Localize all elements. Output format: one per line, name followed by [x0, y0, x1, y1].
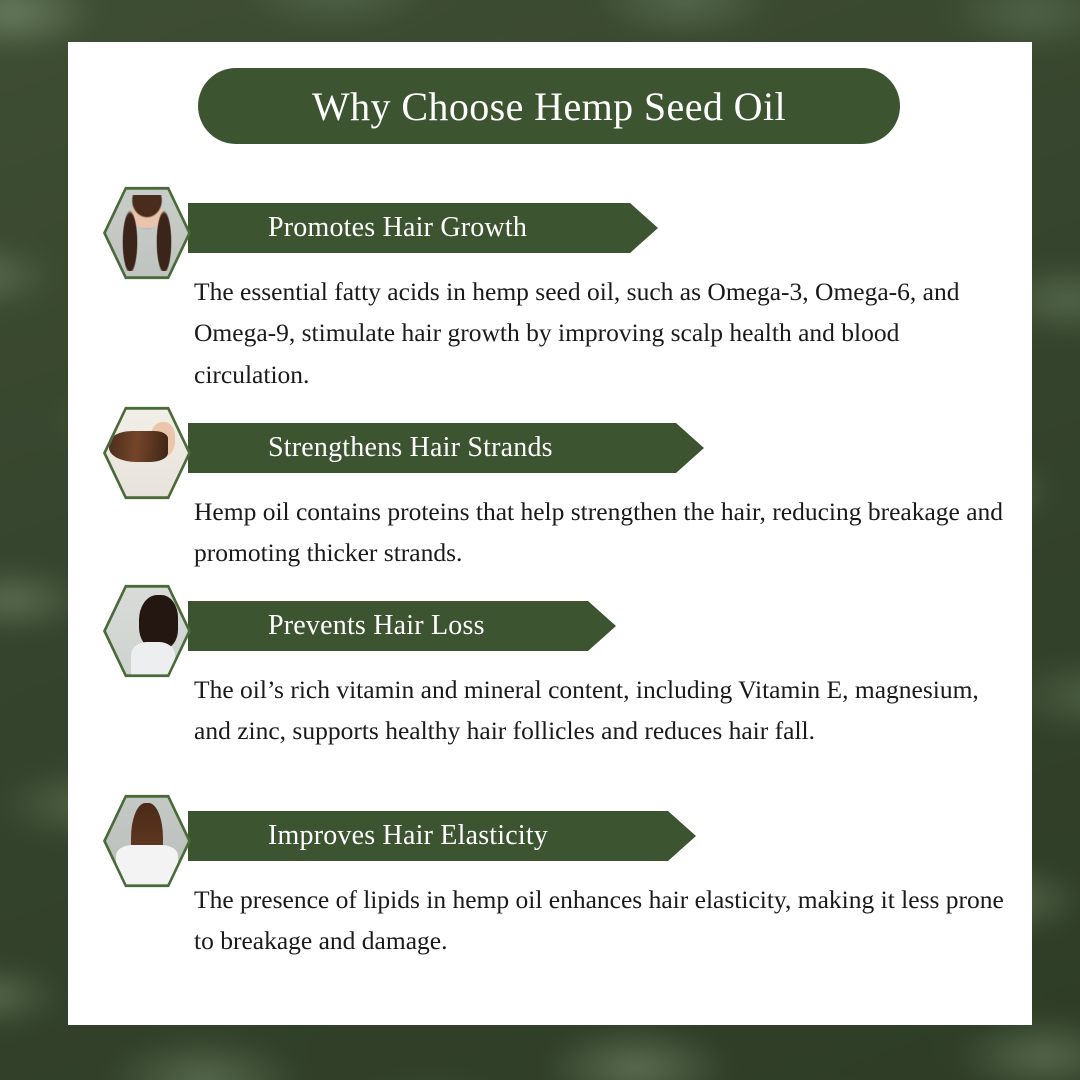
title-pill: Why Choose Hemp Seed Oil [198, 68, 900, 144]
benefit-section-3: Prevents Hair Loss The oil’s rich vitami… [68, 583, 1032, 675]
hexagon-photo-frame [106, 586, 188, 676]
hexagon-photo-frame [106, 408, 188, 498]
infographic-poster: Why Choose Hemp Seed Oil Promotes Hair G… [0, 0, 1080, 1080]
benefit-banner: Strengthens Hair Strands [188, 423, 704, 473]
hexagon-photo-frame [106, 796, 188, 886]
strengthens-hair-strands-icon [103, 405, 191, 501]
content-card: Why Choose Hemp Seed Oil Promotes Hair G… [68, 42, 1032, 1025]
benefit-heading: Improves Hair Elasticity [268, 820, 548, 852]
benefit-header-row: Prevents Hair Loss [68, 583, 1032, 675]
benefit-header-row: Strengthens Hair Strands [68, 405, 1032, 497]
improves-hair-elasticity-icon [103, 793, 191, 889]
benefit-body: Hemp oil contains proteins that help str… [194, 491, 1004, 574]
woman-back-view-long-hair-photo [106, 796, 188, 886]
benefit-body: The oil’s rich vitamin and mineral conte… [194, 669, 1004, 752]
promotes-hair-growth-icon [103, 185, 191, 281]
benefit-body: The presence of lipids in hemp oil enhan… [194, 879, 1004, 962]
benefit-heading: Prevents Hair Loss [268, 610, 485, 642]
benefit-banner: Promotes Hair Growth [188, 203, 658, 253]
benefit-header-row: Improves Hair Elasticity [68, 793, 1032, 885]
hexagon-photo-frame [106, 188, 188, 278]
benefit-header-row: Promotes Hair Growth [68, 185, 1032, 277]
benefit-heading: Promotes Hair Growth [268, 212, 527, 244]
prevents-hair-loss-icon [103, 583, 191, 679]
woman-with-comb-photo [106, 586, 188, 676]
benefit-banner: Prevents Hair Loss [188, 601, 616, 651]
woman-holding-hair-photo [106, 188, 188, 278]
benefit-section-4: Improves Hair Elasticity The presence of… [68, 793, 1032, 885]
woman-brushing-hair-photo [106, 408, 188, 498]
benefit-section-2: Strengthens Hair Strands Hemp oil contai… [68, 405, 1032, 497]
benefit-section-1: Promotes Hair Growth The essential fatty… [68, 185, 1032, 277]
benefit-heading: Strengthens Hair Strands [268, 432, 553, 464]
page-title: Why Choose Hemp Seed Oil [312, 83, 786, 130]
benefit-banner: Improves Hair Elasticity [188, 811, 696, 861]
benefit-body: The essential fatty acids in hemp seed o… [194, 271, 1004, 395]
